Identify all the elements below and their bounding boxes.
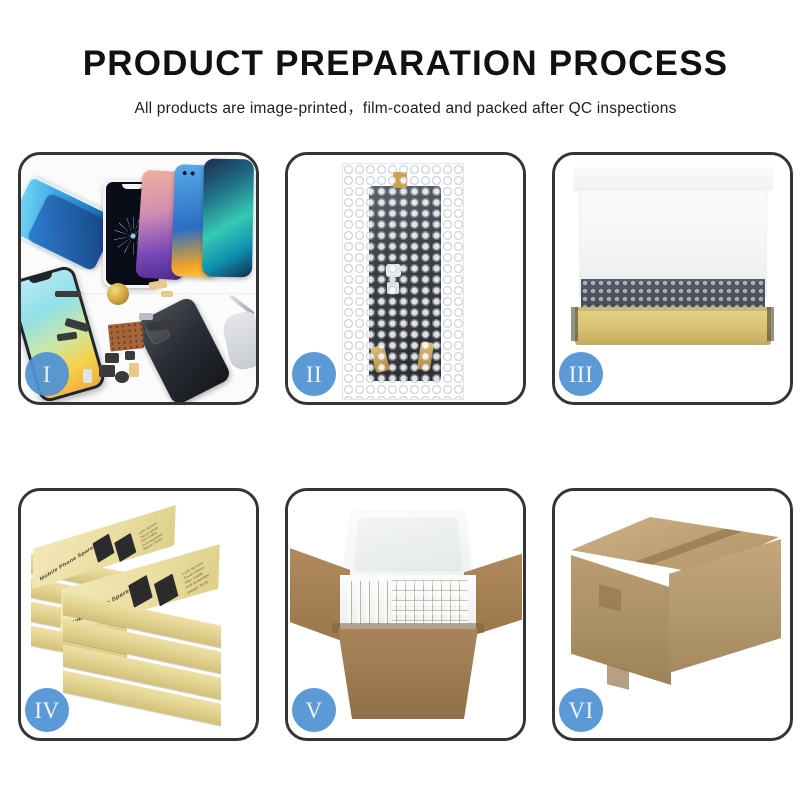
notch-icon xyxy=(29,272,54,284)
box-label-specs: LCD Screen Touch Glass Flex Cable Full A… xyxy=(182,560,211,596)
screw-tray-icon xyxy=(108,321,145,351)
gold-box-stack-icon: Mobile Phone Spare Parts LCD Screen Touc… xyxy=(29,505,251,721)
speaker-module-icon xyxy=(107,283,129,305)
box-tab-icon xyxy=(767,307,774,341)
product-process-infographic: PRODUCT PREPARATION PROCESS All products… xyxy=(0,0,811,811)
connector-icon xyxy=(386,264,401,277)
box-tab-icon xyxy=(571,307,578,341)
step-panel-2: II xyxy=(285,152,526,405)
foam-box-lid-icon xyxy=(341,510,476,581)
camera-flex-tab-icon xyxy=(393,172,407,188)
step-badge-5: V xyxy=(292,688,336,732)
step-badge-6: VI xyxy=(559,688,603,732)
flex-cable-icon xyxy=(148,279,167,290)
step-panel-3: III xyxy=(552,152,793,405)
camera-module-icon xyxy=(99,365,115,377)
earpiece-mesh-icon xyxy=(55,291,81,297)
step-badge-1: I xyxy=(25,352,69,396)
step-badge-2: II xyxy=(292,352,336,396)
gold-box-base-icon xyxy=(575,307,771,345)
step-badge-3: III xyxy=(559,352,603,396)
step-panel-1: I xyxy=(18,152,259,405)
chip-icon xyxy=(125,351,135,360)
box-label-screen-photo xyxy=(154,574,178,607)
page-subtitle: All products are image-printed，film-coat… xyxy=(0,96,811,118)
box-label-screen-photo xyxy=(92,534,114,563)
battery-connector-icon xyxy=(129,363,139,377)
chip-icon xyxy=(105,353,119,363)
header: PRODUCT PREPARATION PROCESS All products… xyxy=(0,0,811,118)
notch-icon xyxy=(122,184,144,189)
gold-contact-icon xyxy=(417,341,434,371)
teal-curved-phone-icon xyxy=(202,159,254,278)
camera-holes-icon xyxy=(182,170,198,176)
speaker-icon xyxy=(115,371,129,383)
phone-back-housing-icon xyxy=(134,295,233,402)
box-label-screen-photo xyxy=(128,575,152,608)
gold-boxes-row-icon xyxy=(392,579,468,625)
hand-icon xyxy=(221,310,256,372)
process-step-grid: I II xyxy=(18,152,793,741)
flex-cable-icon xyxy=(161,291,173,297)
step-panel-5: V xyxy=(285,488,526,741)
step-panel-4: Mobile Phone Spare Parts LCD Screen Touc… xyxy=(18,488,259,741)
box-label-screen-photo xyxy=(114,533,136,562)
box-label-specs: LCD Screen Touch Glass Flex Cable Full A… xyxy=(138,520,164,552)
step-panel-6: VI xyxy=(552,488,793,741)
carton-front-icon xyxy=(338,629,478,719)
connector-icon xyxy=(387,282,399,294)
sim-tray-icon xyxy=(83,369,92,383)
bubble-wrap-bag-icon xyxy=(342,163,464,400)
page-title: PRODUCT PREPARATION PROCESS xyxy=(0,46,811,81)
carton-left-face-icon xyxy=(571,555,671,685)
step-badge-4: IV xyxy=(25,688,69,732)
metal-bracket-icon xyxy=(139,313,153,320)
lcd-screen-assembly-icon xyxy=(369,186,441,381)
carton-tape-patch-icon xyxy=(607,664,629,689)
